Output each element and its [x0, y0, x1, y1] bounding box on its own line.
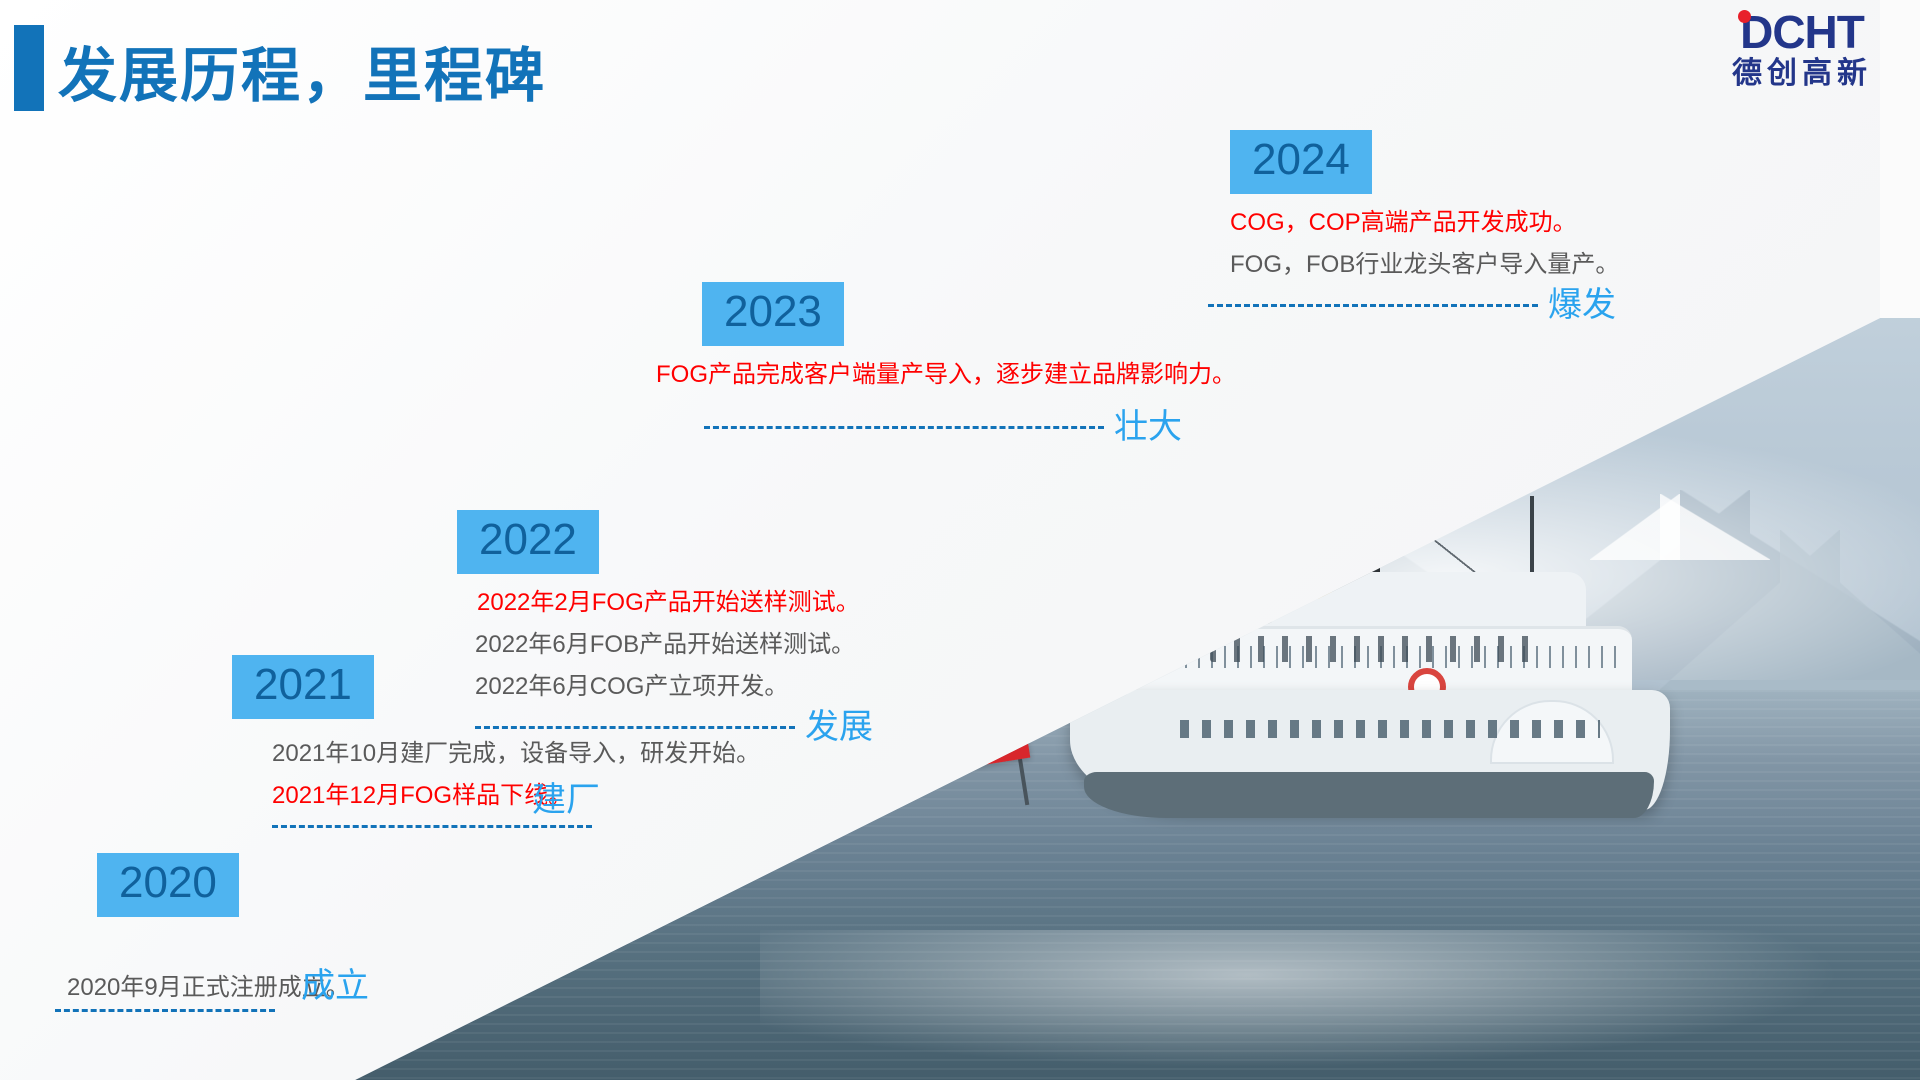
milestone-2024: 2024 COG，COP高端产品开发成功。 FOG，FOB行业龙头客户导入量产。… — [1208, 130, 1619, 324]
milestone-2023: 2023 FOG产品完成客户端量产导入，逐步建立品牌影响力。 壮大 — [680, 282, 1236, 446]
milestone-2020: 2020 2020年9月正式注册成立。 成立 — [55, 853, 369, 1012]
stage-label-2023: 壮大 — [1114, 408, 1182, 446]
hull-windows — [1180, 720, 1600, 738]
stage-dashed-line — [55, 1009, 275, 1012]
title-accent-bar — [14, 25, 44, 111]
logo-wordmark: DCHT — [1740, 8, 1864, 56]
swiss-flag — [940, 647, 1031, 769]
stage-label-2021: 建厂 — [532, 781, 600, 819]
year-badge-2021: 2021 — [232, 655, 374, 719]
event-line: FOG产品完成客户端量产导入，逐步建立品牌影响力。 — [656, 354, 1236, 396]
stage-label-2024: 爆发 — [1548, 286, 1616, 324]
hull-waterline — [1084, 772, 1654, 818]
stage-dashed-line — [272, 825, 592, 828]
year-badge-2023: 2023 — [702, 282, 844, 346]
page-title: 发展历程，里程碑 — [58, 28, 546, 113]
event-line: 2021年10月建厂完成，设备导入，研发开始。 — [272, 733, 760, 775]
logo-wordmark-text: DCHT — [1740, 6, 1864, 58]
passengers — [1210, 636, 1540, 662]
main-mast — [1268, 400, 1272, 646]
signal-pennant — [1249, 450, 1307, 528]
events-2024: COG，COP高端产品开发成功。 FOG，FOB行业龙头客户导入量产。 — [1230, 202, 1619, 286]
year-badge-2020: 2020 — [97, 853, 239, 917]
stage-row-2023: 壮大 — [680, 408, 1236, 446]
stage-row-2024: 爆发 — [1208, 286, 1619, 324]
stage-dashed-line — [1208, 304, 1538, 307]
company-logo: DCHT 德创高新 — [1702, 8, 1902, 100]
stage-dashed-line — [704, 426, 1104, 429]
year-badge-2024: 2024 — [1230, 130, 1372, 194]
stage-dash-row-2020 — [55, 1009, 369, 1012]
stage-label-2022: 发展 — [805, 708, 873, 746]
milestone-2021: 2021 2021年10月建厂完成，设备导入，研发开始。 2021年12月FOG… — [232, 655, 760, 828]
year-badge-2022: 2022 — [457, 510, 599, 574]
stage-label-2020: 成立 — [301, 967, 369, 1005]
stage-dash-row-2021 — [232, 825, 760, 828]
event-line: COG，COP高端产品开发成功。 — [1230, 202, 1619, 244]
events-2023: FOG产品完成客户端量产导入，逐步建立品牌影响力。 — [680, 354, 1236, 396]
boat-wake — [760, 930, 1920, 1080]
upper-deck — [1156, 572, 1586, 632]
steamship — [1060, 400, 1700, 860]
stage-row-2021: 建厂 — [532, 781, 760, 819]
event-line: FOG，FOB行业龙头客户导入量产。 — [1230, 244, 1619, 286]
logo-chinese-name: 德创高新 — [1702, 56, 1902, 92]
event-line: 2022年2月FOG产品开始送样测试。 — [477, 582, 873, 624]
stage-row-2020: 成立 — [301, 967, 369, 1005]
